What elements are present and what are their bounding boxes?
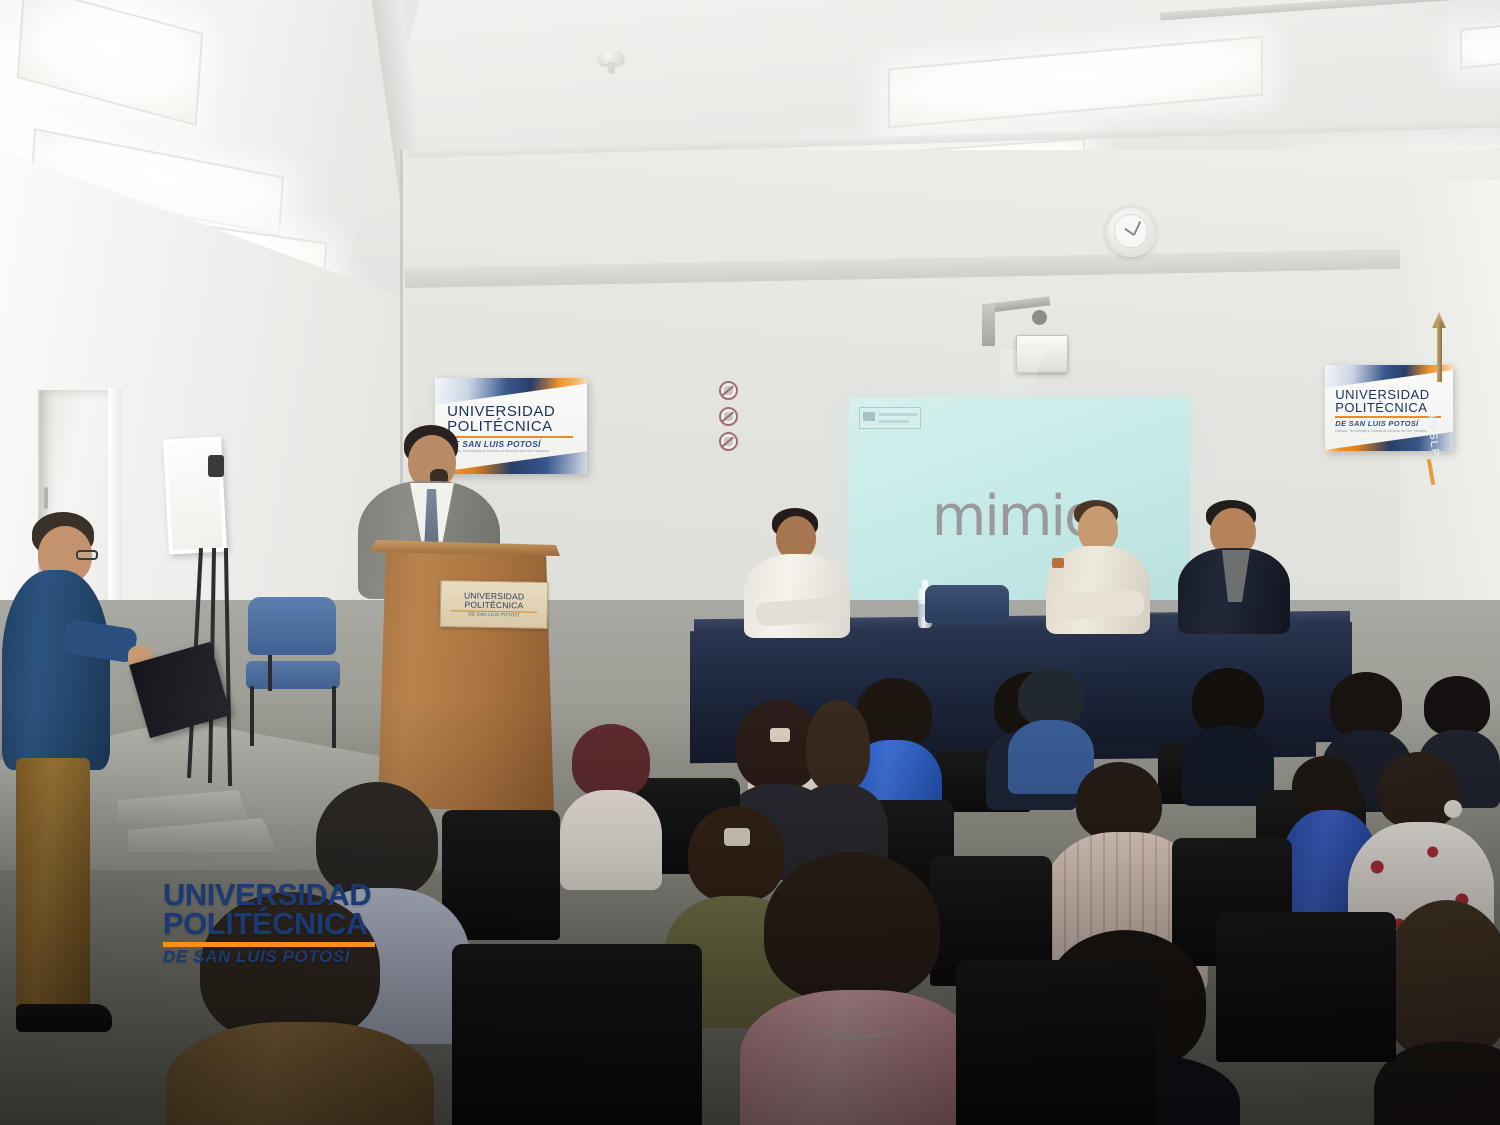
uniform-shoulder-patch bbox=[1052, 558, 1064, 568]
no-drinks-glyph bbox=[724, 437, 734, 447]
podium-plaque-line3: DE SAN LUIS POTOSÍ bbox=[468, 612, 519, 618]
wall-hook-icon bbox=[208, 455, 224, 477]
audience-hair bbox=[1076, 762, 1162, 840]
chair-leg bbox=[250, 686, 254, 746]
wall-sign-swoosh-top bbox=[435, 378, 587, 405]
panelist-center bbox=[1042, 500, 1152, 630]
chair-leg bbox=[332, 686, 336, 748]
wall-clock bbox=[1105, 205, 1157, 257]
blue-chair-backrest bbox=[248, 597, 336, 655]
lower-third-banner: UNIVERSIDAD POLITÉCNICA DE SAN LUIS POTO… bbox=[0, 955, 1500, 1065]
hair-clip-icon bbox=[770, 728, 790, 742]
audience-hair bbox=[1330, 672, 1402, 738]
toolbar-line bbox=[879, 413, 917, 416]
audience-hair bbox=[572, 724, 650, 798]
overlay-logo-line2: POLITÉCNICA bbox=[163, 909, 395, 938]
hair-clip-icon bbox=[724, 828, 750, 846]
projected-toolbar bbox=[859, 407, 921, 429]
projector-lens-icon bbox=[1032, 310, 1047, 325]
audience-hair bbox=[1018, 668, 1084, 726]
empty-chair bbox=[925, 585, 1009, 623]
panelist-crossed-arms bbox=[1053, 590, 1144, 621]
no-food-icon bbox=[719, 407, 738, 426]
projector-mount-plate bbox=[982, 304, 995, 346]
chair-leg bbox=[268, 655, 272, 691]
glasses-icon bbox=[76, 550, 98, 560]
no-drinks-icon bbox=[719, 432, 738, 451]
podium-plaque: UNIVERSIDAD POLITÉCNICA DE SAN LUIS POTO… bbox=[440, 580, 549, 629]
podium-plaque-line2: POLITÉCNICA bbox=[464, 600, 523, 610]
panelist-shirt bbox=[744, 554, 850, 638]
overlay-logo: UNIVERSIDAD POLITÉCNICA DE SAN LUIS POTO… bbox=[163, 880, 395, 965]
audience-top bbox=[560, 790, 662, 890]
no-smoking-glyph bbox=[724, 386, 734, 396]
no-smoking-icon bbox=[719, 381, 738, 400]
blue-chair-seat bbox=[246, 661, 340, 689]
door-handle-icon bbox=[44, 487, 48, 509]
conference-room-photo: UNIVERSIDAD POLITÉCNICA DE SAN LUIS POTO… bbox=[0, 0, 1500, 1125]
wall-sign-line1: UNIVERSIDAD bbox=[447, 404, 578, 419]
toolbar-line bbox=[879, 420, 909, 423]
standing-man-blazer bbox=[2, 570, 110, 770]
panelist-left bbox=[742, 508, 852, 628]
panelist-right bbox=[1178, 500, 1288, 628]
audience-member bbox=[560, 724, 660, 884]
audience-hair bbox=[1424, 676, 1490, 736]
hair-tie-icon bbox=[1444, 800, 1462, 818]
audience-member bbox=[790, 700, 886, 870]
toolbar-icon bbox=[863, 412, 875, 421]
ceiling-light-panel bbox=[1460, 23, 1500, 69]
no-food-glyph bbox=[724, 412, 734, 422]
audience-hair bbox=[1192, 668, 1264, 734]
audience-hair bbox=[806, 700, 870, 792]
smoke-detector-stem bbox=[608, 62, 615, 74]
